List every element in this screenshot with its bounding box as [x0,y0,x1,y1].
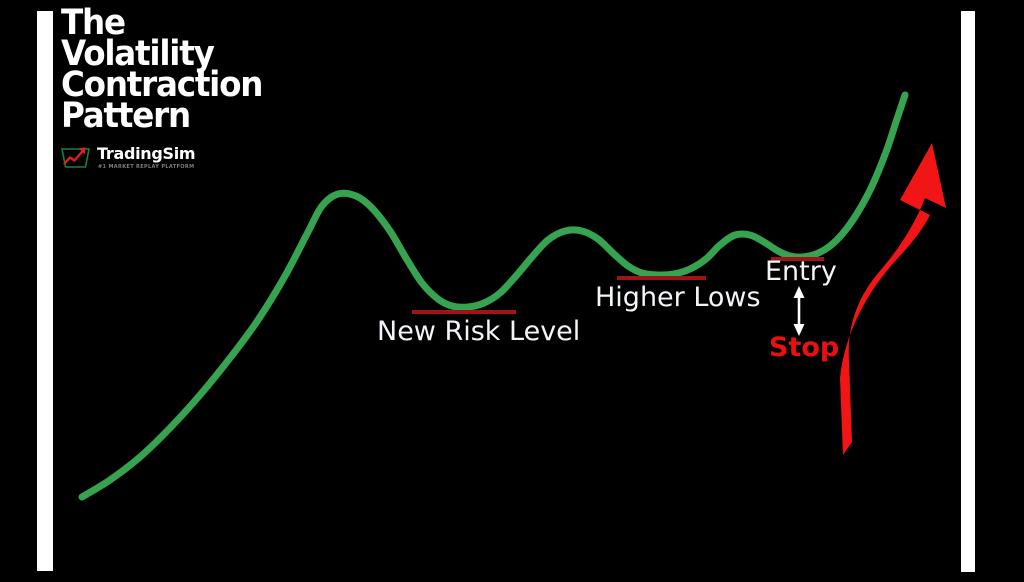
entry-stop-arrow [794,286,805,336]
measure-head-up [794,286,805,298]
label-stop: Stop [769,332,839,363]
label-new-risk-level: New Risk Level [377,316,580,347]
price-line [82,95,905,497]
infographic-canvas: The Volatility Contraction Pattern Tradi… [0,0,1024,582]
price-chart [0,0,1024,582]
label-entry: Entry [765,256,837,287]
breakout-arrow [840,143,946,455]
label-higher-lows: Higher Lows [595,282,761,313]
